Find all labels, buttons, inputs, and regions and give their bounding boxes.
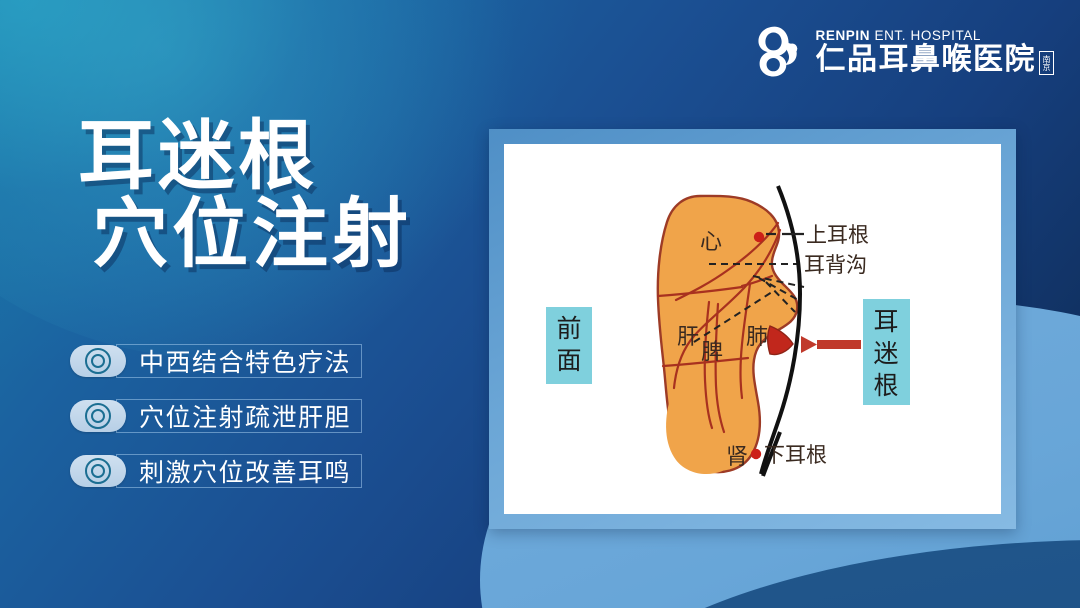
callout-arrow-icon: [801, 336, 861, 353]
logo-english-bold: RENPIN: [816, 28, 871, 43]
label-organ-heart: 心: [700, 229, 722, 254]
slide-root: RENPIN ENT. HOSPITAL 仁品耳鼻喉医院 南京 耳迷根 穴位注射…: [0, 0, 1080, 608]
acupoint-callout-char-3: 根: [873, 372, 898, 400]
logo-english-line: RENPIN ENT. HOSPITAL: [816, 28, 982, 43]
lower-root-point: [751, 449, 761, 459]
bullet-text-box-1: 中西结合特色疗法: [116, 344, 362, 378]
ear-acupoint-diagram: 上耳根 耳背沟 下耳根 心 肝 脾 肺 肾 前 面: [504, 144, 1001, 514]
upper-root-point: [754, 232, 764, 242]
label-organ-kidney: 肾: [726, 444, 748, 469]
brand-logo: RENPIN ENT. HOSPITAL 仁品耳鼻喉医院 南京: [748, 22, 1055, 80]
diagram-panel: 上耳根 耳背沟 下耳根 心 肝 脾 肺 肾 前 面: [489, 129, 1016, 529]
label-organ-lung: 肺: [746, 324, 768, 349]
double-circle-icon: [70, 345, 126, 377]
label-upper-root: 上耳根: [806, 223, 869, 247]
label-organ-liver: 肝: [677, 324, 699, 349]
bullet-item-3: 刺激穴位改善耳鸣: [70, 452, 362, 490]
front-view-box-char-1: 前: [556, 315, 581, 343]
bullet-list: 中西结合特色疗法 穴位注射疏泄肝胆 刺激穴位改善耳鸣: [70, 342, 362, 490]
double-circle-icon: [70, 455, 126, 487]
bullet-label-1: 中西结合特色疗法: [139, 343, 351, 379]
bullet-item-1: 中西结合特色疗法: [70, 342, 362, 380]
label-back-groove: 耳背沟: [804, 253, 867, 277]
logo-city-badge: 南京: [1039, 51, 1054, 75]
acupoint-callout-char-1: 耳: [873, 309, 898, 336]
bullet-label-3: 刺激穴位改善耳鸣: [139, 453, 351, 489]
acupoint-wedge-shape: [768, 326, 793, 355]
headline-line-1: 耳迷根: [78, 118, 412, 196]
bullet-item-2: 穴位注射疏泄肝胆: [70, 397, 362, 435]
double-circle-icon: [70, 400, 126, 432]
acupoint-callout-box: 耳 迷 根: [863, 299, 910, 405]
diagram-canvas: 上耳根 耳背沟 下耳根 心 肝 脾 肺 肾 前 面: [504, 144, 1001, 514]
logo-english-rest: ENT. HOSPITAL: [874, 28, 981, 43]
bullet-label-2: 穴位注射疏泄肝胆: [139, 398, 351, 434]
label-lower-root: 下耳根: [764, 443, 827, 467]
label-organ-spleen: 脾: [701, 339, 723, 364]
headline-block: 耳迷根 穴位注射: [78, 118, 412, 275]
bullet-text-box-3: 刺激穴位改善耳鸣: [116, 454, 362, 488]
logo-chinese-name: 仁品耳鼻喉医院: [816, 45, 1037, 75]
acupoint-callout-char-2: 迷: [873, 340, 898, 368]
front-view-box-char-2: 面: [556, 348, 581, 375]
headline-line-2: 穴位注射: [92, 196, 412, 274]
renpin-swirl-mark-icon: [748, 22, 806, 80]
bullet-text-box-2: 穴位注射疏泄肝胆: [116, 399, 362, 433]
front-view-box: 前 面: [546, 307, 592, 384]
